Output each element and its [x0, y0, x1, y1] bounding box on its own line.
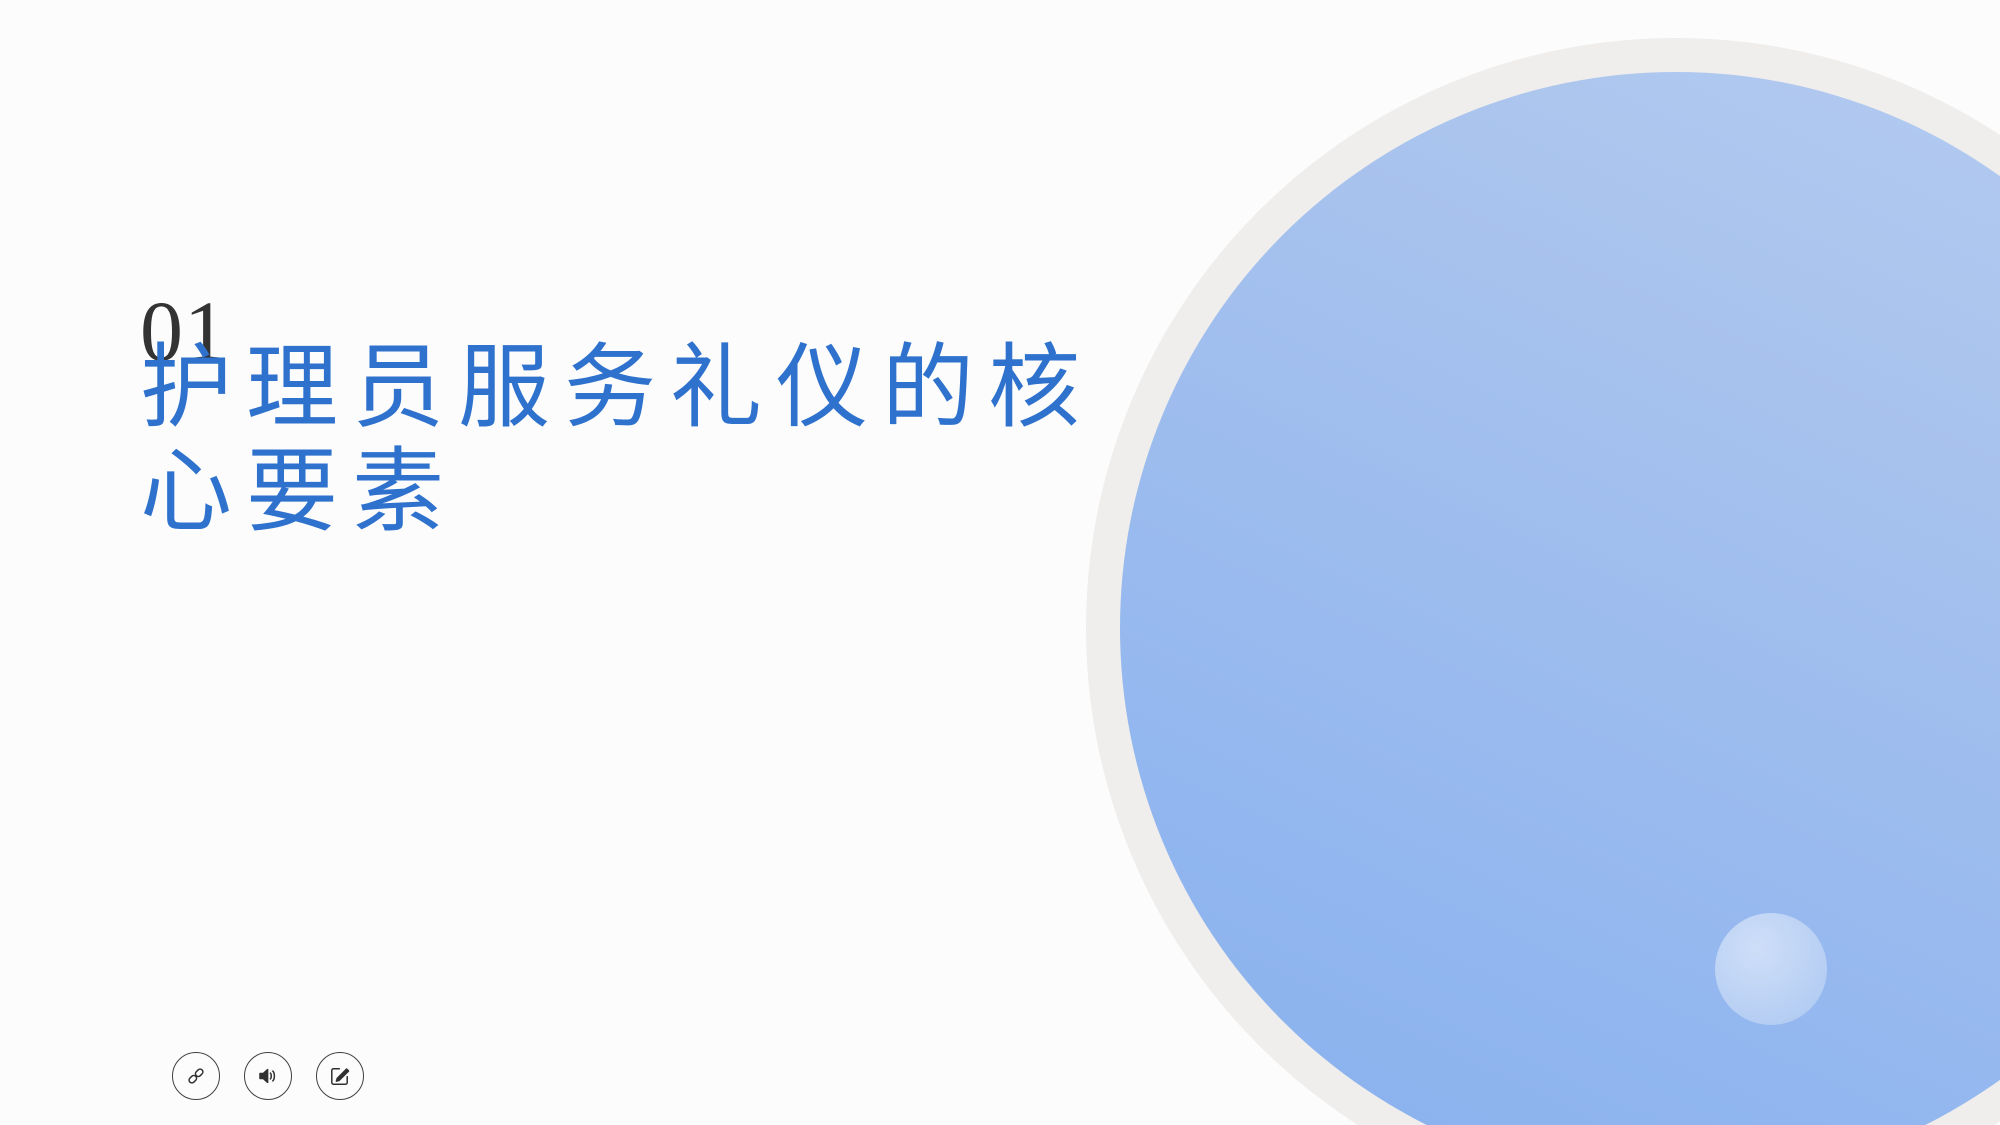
large-blue-circle [1120, 72, 2000, 1125]
slide-canvas: 01 护理员服务礼仪的核心要素 [0, 0, 2000, 1125]
small-highlight-circle [1715, 913, 1827, 1025]
outer-ring-circle [1086, 38, 2000, 1125]
volume-button[interactable] [244, 1052, 292, 1100]
link-icon [184, 1064, 208, 1088]
edit-button[interactable] [316, 1052, 364, 1100]
page-title: 护理员服务礼仪的核心要素 [140, 336, 1100, 544]
volume-icon [256, 1064, 280, 1088]
title-line-2: 心要素 [140, 441, 458, 543]
decorative-circle-group [0, 0, 2000, 1125]
icon-toolbar [172, 1052, 364, 1100]
title-line-1: 护理员服务礼仪的核 [140, 337, 1094, 439]
edit-icon [328, 1064, 352, 1088]
link-button[interactable] [172, 1052, 220, 1100]
